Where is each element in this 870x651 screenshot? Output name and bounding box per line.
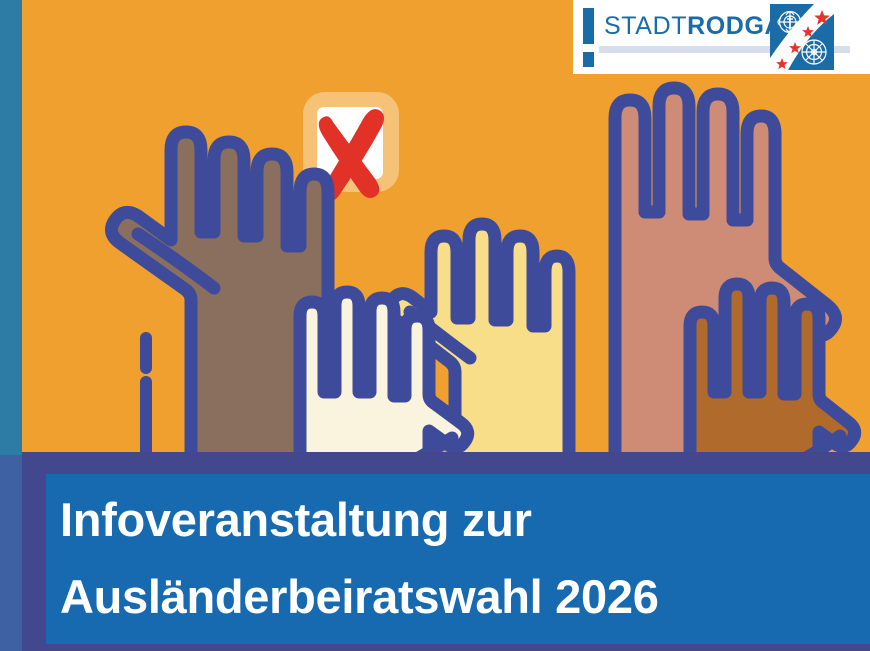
poster-root: Infoveranstaltung zur Ausländerbeiratswa… (0, 0, 870, 651)
logo-bar-lower-icon (583, 52, 594, 67)
ground-band-highlight (22, 452, 870, 462)
left-edge-strip-lower (0, 455, 22, 651)
rodgau-coat-of-arms-icon (770, 4, 834, 70)
city-logo: STADTRODGAU (573, 0, 870, 74)
logo-word-stadt: STADT (604, 12, 687, 40)
poster-title-line-1: Infoveranstaltung zur (60, 481, 860, 558)
logo-bar-upper-icon (583, 8, 594, 44)
poster-title-line-2: Ausländerbeiratswahl 2026 (60, 558, 860, 635)
poster-title: Infoveranstaltung zur Ausländerbeiratswa… (60, 481, 860, 635)
